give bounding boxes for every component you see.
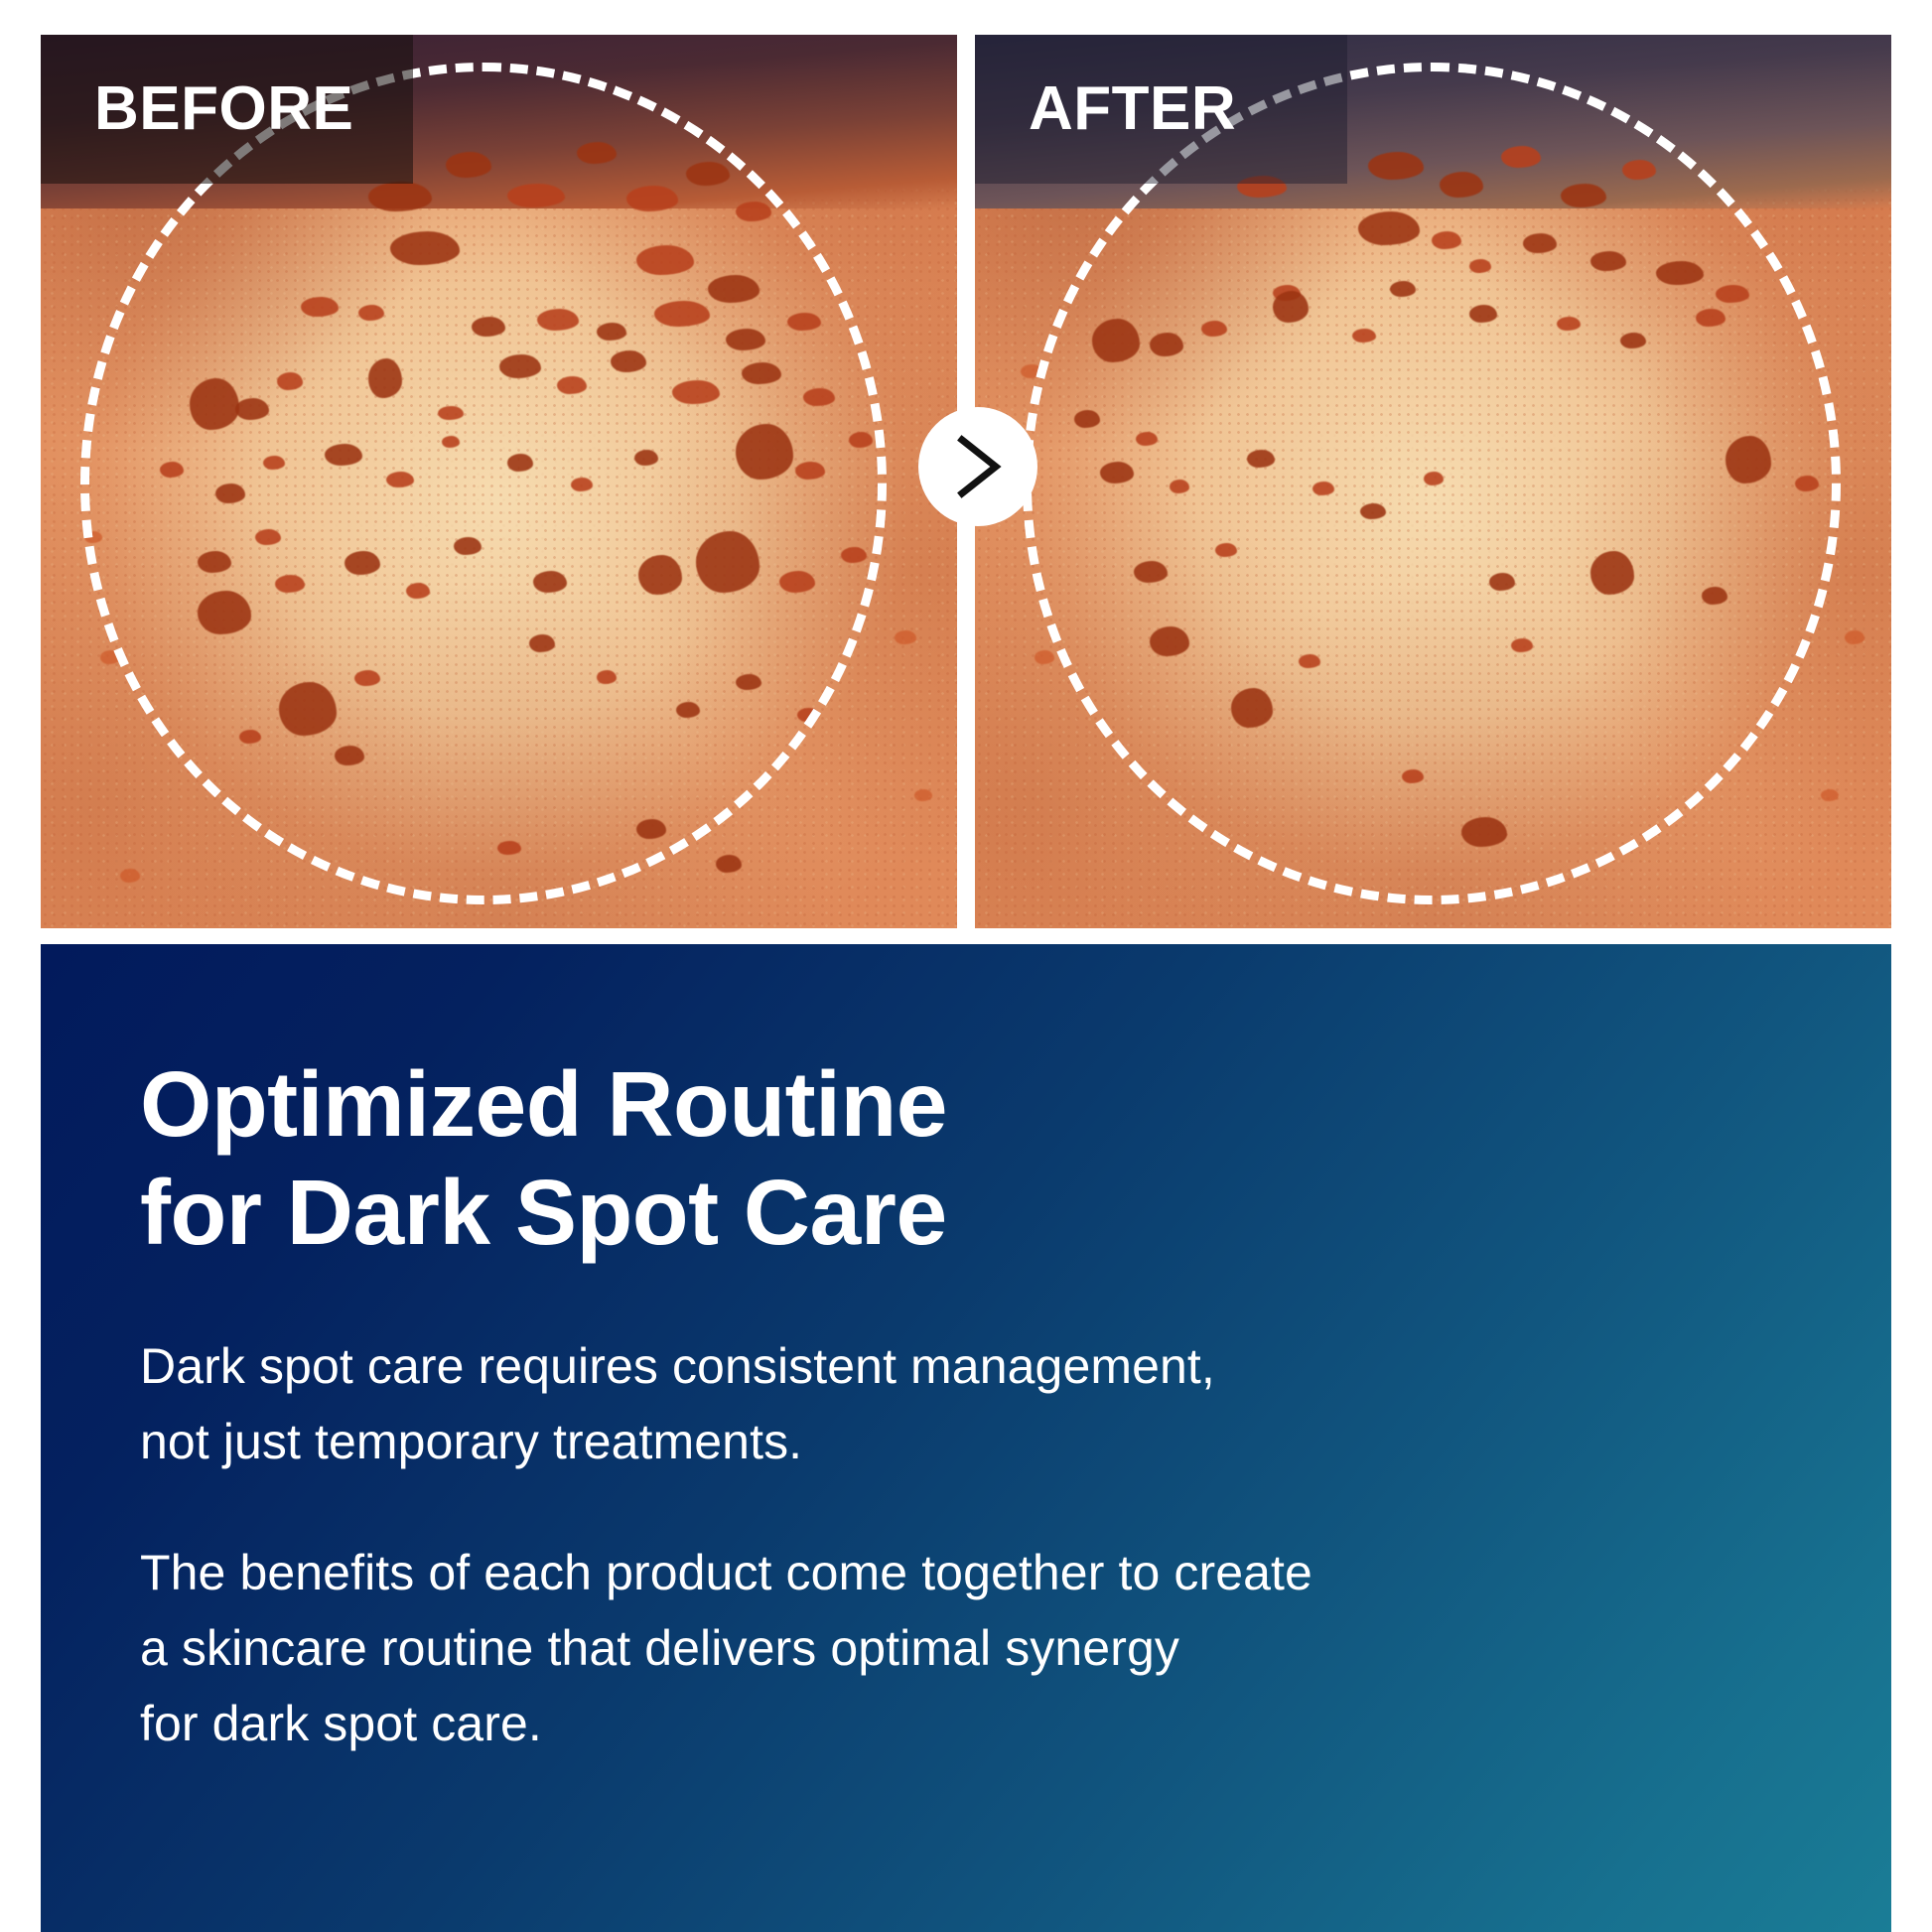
after-label-badge: AFTER xyxy=(975,35,1347,184)
before-label-badge: BEFORE xyxy=(41,35,413,184)
page-title-line-2: for Dark Spot Care xyxy=(140,1159,1812,1267)
body-paragraph-2-line-2: a skincare routine that delivers optimal… xyxy=(140,1610,1812,1686)
body-paragraph-1-line-2: not just temporary treatments. xyxy=(140,1404,1812,1479)
page-title: Optimized Routine for Dark Spot Care xyxy=(140,1050,1812,1267)
body-paragraph-2-line-1: The benefits of each product come togeth… xyxy=(140,1535,1812,1610)
before-label-text: BEFORE xyxy=(94,78,353,140)
body-paragraph-2: The benefits of each product come togeth… xyxy=(140,1535,1812,1761)
body-paragraph-2-line-3: for dark spot care. xyxy=(140,1686,1812,1761)
body-paragraph-1: Dark spot care requires consistent manag… xyxy=(140,1328,1812,1479)
before-panel[interactable]: BEFORE xyxy=(41,35,957,928)
region-highlight-circle-after xyxy=(1023,63,1841,904)
comparison-arrow-badge[interactable] xyxy=(918,407,1037,526)
after-panel[interactable]: AFTER xyxy=(975,35,1891,928)
after-label-text: AFTER xyxy=(1029,78,1236,140)
region-highlight-circle-before xyxy=(80,63,887,904)
info-panel: Optimized Routine for Dark Spot Care Dar… xyxy=(41,944,1891,1932)
chevron-right-icon xyxy=(950,432,1006,501)
page-title-line-1: Optimized Routine xyxy=(140,1050,1812,1159)
body-paragraph-1-line-1: Dark spot care requires consistent manag… xyxy=(140,1328,1812,1404)
